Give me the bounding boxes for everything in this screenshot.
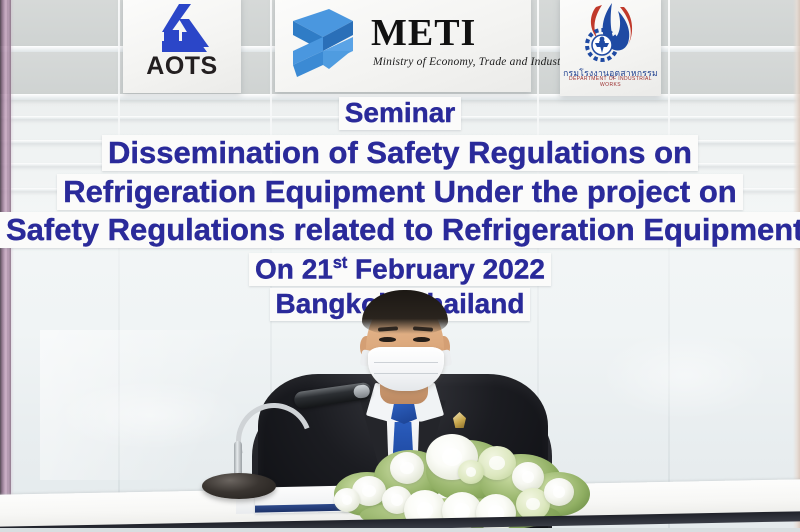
aots-wordmark: AOTS [123, 52, 241, 81]
diw-english-text: DEPARTMENT OF INDUSTRIAL WORKS [560, 76, 661, 88]
meti-wordmark: METI [371, 14, 476, 52]
diw-flame-gear-mark [572, 1, 650, 65]
title-seminar-label: Seminar [0, 97, 800, 130]
logo-panel-aots: AOTS [123, 0, 241, 93]
title-line-2: Refrigeration Equipment Under the projec… [0, 174, 800, 210]
title-date-line: On 21st February 2022 [0, 253, 800, 286]
date-ordinal: st [333, 254, 347, 272]
seminar-photo: AOTS METI Ministry of Economy, Trade and… [0, 0, 800, 532]
eye-left [379, 337, 396, 342]
aots-triangle-mark [149, 2, 215, 54]
eye-right [413, 337, 430, 342]
logo-panel-diw: กรมโรงงานอุตสาหกรรม DEPARTMENT OF INDUST… [560, 0, 661, 96]
flower-bloom [458, 460, 484, 484]
flower-bloom [544, 478, 574, 506]
table-underside [0, 528, 800, 532]
hair [362, 290, 448, 334]
title-line-1-text: Dissemination of Safety Regulations on [102, 135, 698, 171]
microphone-capsule [293, 382, 373, 410]
date-suffix: February 2022 [347, 253, 545, 284]
title-line-1: Dissemination of Safety Regulations on [0, 135, 800, 171]
microphone-base [202, 473, 276, 499]
title-line-3: Safety Regulations related to Refrigerat… [0, 212, 800, 248]
meti-tagline: Ministry of Economy, Trade and Industry [373, 56, 571, 68]
flower-bloom [478, 446, 516, 480]
title-seminar-text: Seminar [339, 97, 462, 130]
flower-bloom [334, 488, 360, 512]
meti-hourglass-mark [289, 7, 357, 79]
logo-panel-meti: METI Ministry of Economy, Trade and Indu… [275, 0, 531, 92]
glass-reflection [600, 330, 770, 420]
title-line-2-text: Refrigeration Equipment Under the projec… [57, 174, 742, 210]
date-prefix: On 21 [255, 253, 333, 284]
title-line-3-text: Safety Regulations related to Refrigerat… [0, 212, 800, 248]
flower-bloom [390, 452, 424, 484]
title-date-text: On 21st February 2022 [249, 253, 551, 286]
